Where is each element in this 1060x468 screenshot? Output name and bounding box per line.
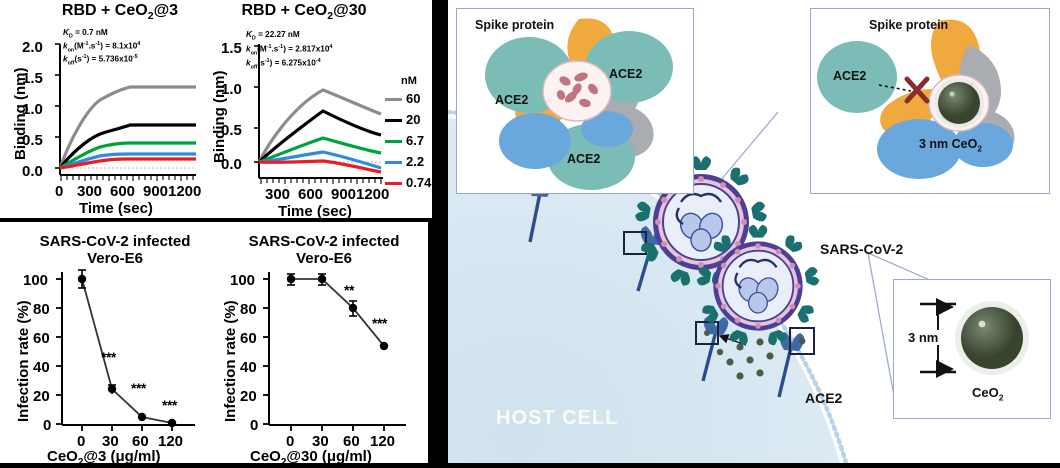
ace2-label-right: ACE2 xyxy=(609,67,642,81)
receptor-label: ACE2 xyxy=(805,390,842,406)
x-tick: 300 xyxy=(77,183,102,200)
bli-chart-ceo2-3: RBD + CeO2@3 KD = 0.7 nM kon(M-1.s-1) = … xyxy=(0,0,215,218)
nanoparticle-label: 3 nm CeO2 xyxy=(919,137,982,154)
legend-label-20: 20 xyxy=(406,113,420,126)
infection-plot-svg xyxy=(216,222,428,463)
virus-label: SARS-CoV-2 xyxy=(820,241,903,257)
x-tick: 120 xyxy=(370,433,395,450)
ace2-label-left: ACE2 xyxy=(495,93,528,107)
infection-chart-ceo2-3: SARS-CoV-2 infected Vero-E6 Infection ra… xyxy=(0,222,216,463)
legend-label-6-7: 6.7 xyxy=(406,134,424,147)
x-axis-label: CeO2@3 (μg/ml) xyxy=(47,448,160,468)
legend-swatch-0-74 xyxy=(385,182,402,185)
inset-nanoparticle-scale: 3 nm CeO2 xyxy=(893,279,1051,419)
x-axis-label: Time (sec) xyxy=(79,200,153,217)
legend-swatch-20 xyxy=(385,119,402,122)
spike-blocked-complex xyxy=(811,9,1048,192)
significance-marker: *** xyxy=(372,315,387,331)
x-tick: 900 xyxy=(331,186,356,203)
infection-chart-ceo2-30: SARS-CoV-2 infected Vero-E6 Infection ra… xyxy=(216,222,428,463)
infection-plot-svg xyxy=(0,222,216,463)
legend-swatch-60 xyxy=(385,98,402,101)
bli-chart-ceo2-30: RBD + CeO2@30 KD = 22.27 nM kon(M-1.s-1)… xyxy=(215,0,385,218)
legend-unit: nM xyxy=(401,76,417,87)
spike-protein-label: Spike protein xyxy=(869,18,948,32)
legend-label-60: 60 xyxy=(406,92,420,105)
bli-legend: nM 60 20 6.7 2.2 0.74 xyxy=(385,0,432,218)
x-tick: 600 xyxy=(110,183,135,200)
x-tick: 0 xyxy=(55,183,63,200)
ace2-label: ACE2 xyxy=(833,69,866,83)
x-tick: 120 xyxy=(158,433,183,450)
scale-label: 3 nm xyxy=(906,330,940,345)
significance-marker: *** xyxy=(131,380,146,396)
inset-spike-blocked: Spike protein ACE2 3 nm CeO2 xyxy=(810,8,1050,194)
significance-marker: *** xyxy=(162,397,177,413)
figure-root: RBD + CeO2@3 KD = 0.7 nM kon(M-1.s-1) = … xyxy=(0,0,1060,463)
infection-charts-panel: SARS-CoV-2 infected Vero-E6 Infection ra… xyxy=(0,222,428,463)
host-cell-label: HOST CELL xyxy=(496,407,618,430)
inset-spike-ace2-binding: Spike protein ACE2 ACE2 ACE2 xyxy=(456,8,694,194)
material-label: CeO2 xyxy=(972,385,1004,403)
legend-label-0-74: 0.74 xyxy=(406,176,431,189)
x-axis-label: CeO2@30 (μg/ml) xyxy=(250,448,372,468)
significance-marker: *** xyxy=(101,349,116,365)
x-tick: 1200 xyxy=(168,183,201,200)
left-panel: RBD + CeO2@3 KD = 0.7 nM kon(M-1.s-1) = … xyxy=(0,0,432,463)
legend-swatch-6-7 xyxy=(385,140,402,143)
x-tick: 300 xyxy=(265,186,290,203)
spike-protein-label: Spike protein xyxy=(475,18,554,32)
x-tick: 600 xyxy=(298,186,323,203)
x-tick: 900 xyxy=(143,183,168,200)
ace2-label-bottom: ACE2 xyxy=(567,152,600,166)
bli-charts-panel: RBD + CeO2@3 KD = 0.7 nM kon(M-1.s-1) = … xyxy=(0,0,432,218)
legend-label-2-2: 2.2 xyxy=(406,155,424,168)
mechanism-illustration: SARS-CoV-2 ACE2 HOST CELL xyxy=(448,0,1060,463)
significance-marker: ** xyxy=(344,282,354,298)
legend-swatch-2-2 xyxy=(385,161,402,164)
x-axis-label: Time (sec) xyxy=(278,203,352,220)
